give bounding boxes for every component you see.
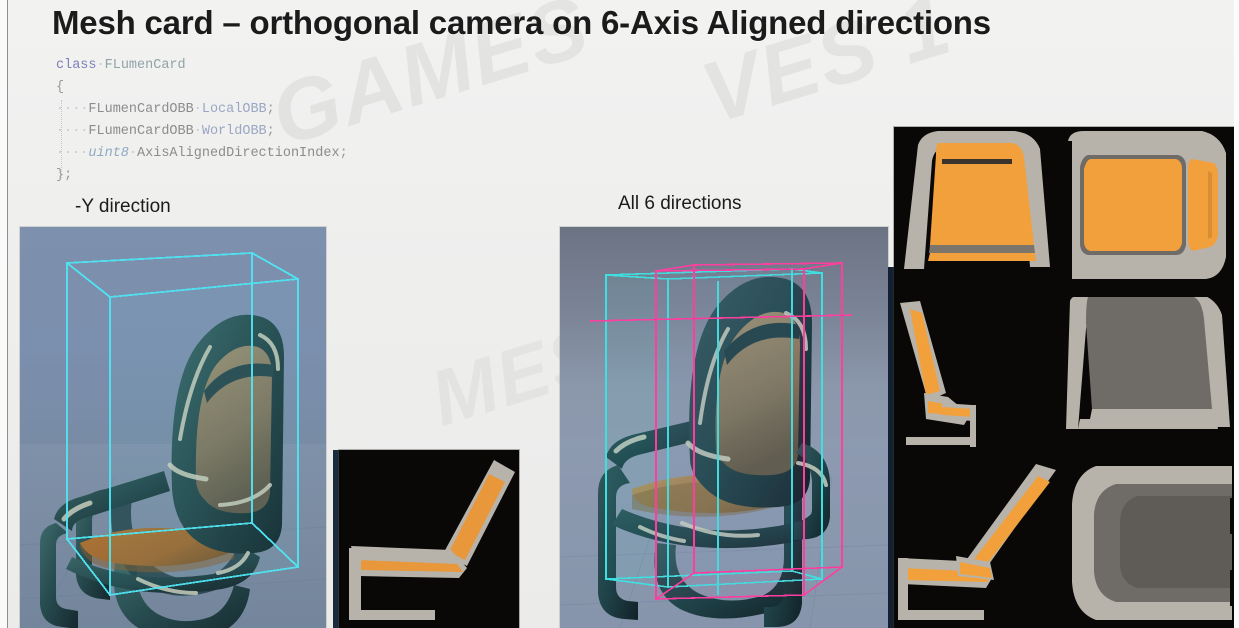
chair-render-right [560, 227, 888, 628]
code-token: · [97, 58, 105, 73]
code-token: · [194, 124, 202, 139]
caption-left-viewport: -Y direction [75, 196, 171, 218]
code-token: FLumenCardOBB [88, 124, 193, 139]
atlas-cell-card-side2-albedo[interactable] [894, 462, 1066, 628]
atlas-cell-card-back-normal[interactable] [1066, 297, 1239, 462]
card-side-preview[interactable] [339, 450, 519, 628]
code-line: }; [56, 165, 348, 187]
card-bottom-normal-image [1066, 462, 1239, 628]
code-token: ; [267, 124, 275, 139]
card-front-albedo-image [894, 127, 1066, 297]
code-block: class·FLumenCard{····FLumenCardOBB·Local… [56, 55, 348, 187]
card-back-normal-image [1066, 297, 1239, 462]
atlas-cell-card-side-albedo[interactable] [894, 297, 1066, 462]
code-indent-guide [61, 100, 63, 178]
card-side2-albedo-image [894, 462, 1066, 628]
card-side-preview-image [339, 450, 519, 628]
code-line: ····uint8·AxisAlignedDirectionIndex; [56, 143, 348, 165]
card-atlas-grid[interactable] [894, 127, 1239, 628]
slide-canvas: GAMES VES 1 MES Mesh card – orthogonal c… [0, 0, 1239, 628]
slide-title: Mesh card – orthogonal camera on 6-Axis … [52, 4, 991, 42]
viewport-all-directions[interactable] [560, 227, 888, 628]
code-line: ····FLumenCardOBB·LocalOBB; [56, 99, 348, 121]
card-top-albedo-image [1066, 127, 1239, 297]
code-token: ; [267, 102, 275, 117]
card-side-albedo-image [894, 297, 1066, 462]
code-token: LocalOBB [202, 102, 267, 117]
atlas-cell-card-front-albedo[interactable] [894, 127, 1066, 297]
code-token: }; [56, 168, 72, 183]
code-token: · [194, 102, 202, 117]
code-token: FLumenCard [105, 58, 186, 73]
code-line: ····FLumenCardOBB·WorldOBB; [56, 121, 348, 143]
atlas-cell-card-top-albedo[interactable] [1066, 127, 1239, 297]
code-line: class·FLumenCard [56, 55, 348, 77]
caption-right-viewport: All 6 directions [618, 193, 742, 215]
code-token: AxisAlignedDirectionIndex [137, 146, 340, 161]
code-token: ; [340, 146, 348, 161]
code-token: uint8 [88, 146, 129, 161]
code-token: FLumenCardOBB [88, 102, 193, 117]
code-line: { [56, 77, 348, 99]
atlas-cell-card-bottom-normal[interactable] [1066, 462, 1239, 628]
code-token: { [56, 80, 64, 95]
code-token: class [56, 58, 97, 73]
viewport-single-direction[interactable] [20, 227, 326, 628]
code-token: · [129, 146, 137, 161]
chair-render-left [20, 227, 326, 628]
code-token: WorldOBB [202, 124, 267, 139]
